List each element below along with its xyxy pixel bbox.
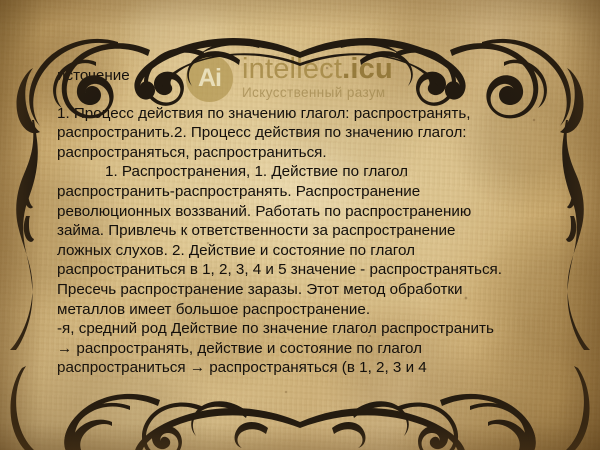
edge-vignette: [0, 0, 600, 450]
parchment-slide: источение 1. Процесс действия по значени…: [0, 0, 600, 450]
